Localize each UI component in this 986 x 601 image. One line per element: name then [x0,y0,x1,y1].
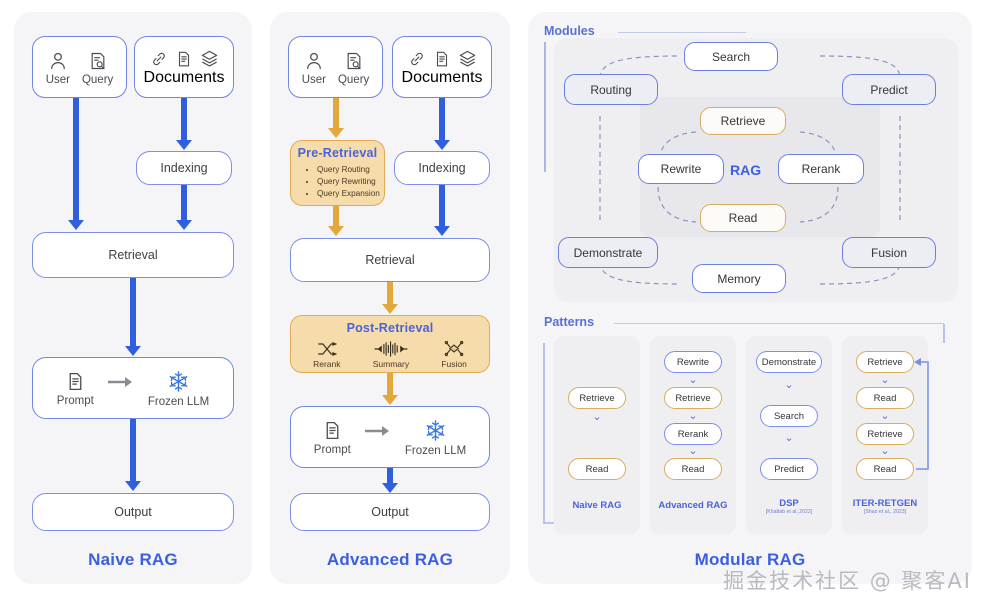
link-icon [150,50,168,68]
documents-box-advanced: Documents [392,36,492,98]
pattern-step: Retrieve [568,387,626,409]
module-retrieve: Retrieve [700,107,786,135]
pre-retrieval-item: Query Rewriting [317,176,384,188]
chevron-down-icon: ⌄ [856,411,914,422]
module-rerank: Rerank [778,154,864,184]
user-query-box: User Query [32,36,127,98]
prompt-item: Prompt [314,420,351,456]
module-search: Search [684,42,778,71]
user-label: User [302,74,326,86]
query-label: Query [82,74,113,86]
query-icon [88,51,108,71]
snowflake-icon [167,370,190,393]
user-item: User [46,51,70,86]
chevron-down-icon: ⌄ [756,380,822,391]
query-item: Query [338,51,369,86]
module-demonstrate: Demonstrate [558,237,658,268]
user-item: User [302,51,326,86]
module-memory: Memory [692,264,786,293]
pattern-caption: DSP [746,498,832,509]
module-rewrite: Rewrite [638,154,724,184]
frozen-llm-label: Frozen LLM [405,445,466,457]
pattern-citation: [Khattab et al.,2022] [746,509,832,515]
summary-label: Summary [373,359,409,369]
arrow-post-retrieval-to-prompt [380,373,400,405]
pattern-step: Retrieve [664,387,722,409]
prompt-document-icon [65,371,86,392]
summary-icon [374,341,408,357]
modules-bracket [544,42,546,172]
panel-title-naive: Naive RAG [14,550,252,570]
fusion-icon [443,340,465,357]
panel-title-advanced: Advanced RAG [270,550,510,570]
prompt-label: Prompt [57,395,94,407]
prompt-item: Prompt [57,371,94,407]
frozen-llm-item: Frozen LLM [405,419,466,457]
arrow-retrieval-to-prompt [123,278,143,356]
post-retrieval-item-summary: Summary [373,341,409,369]
pattern-step: Read [664,458,722,480]
pattern-step: Rerank [664,423,722,445]
user-label: User [46,74,70,86]
pattern-citation: [Shao et al., 2023] [842,509,928,515]
document-icon [433,50,451,68]
frozen-llm-item: Frozen LLM [148,370,209,408]
pattern-step: Read [856,458,914,480]
pattern-step: Retrieve [856,423,914,445]
arrow-user-to-retrieval [66,98,86,230]
prompt-frozen-llm-box-advanced: Prompt Frozen LLM [290,406,490,468]
panel-advanced-rag: User Query [270,12,510,584]
watermark: 掘金技术社区 @ 聚客AI [723,565,972,595]
rag-center-label: RAG [730,162,761,178]
pre-retrieval-list: Query Routing Query Rewriting Query Expa… [291,164,384,200]
arrow-indexing-to-retrieval [432,185,452,236]
documents-label: Documents [402,69,483,87]
documents-label: Documents [144,69,225,87]
chevron-down-icon: ⌄ [856,375,914,386]
chevron-down-icon: ⌄ [856,446,914,457]
chevron-down-icon: ⌄ [664,375,722,386]
pattern-step: Rewrite [664,351,722,373]
user-query-box-advanced: User Query [288,36,383,98]
pattern-caption: ITER-RETGEN [842,498,928,509]
arrow-query-to-pre-retrieval [326,98,346,138]
node-indexing: Indexing [136,151,232,185]
pattern-step: Read [856,387,914,409]
pre-retrieval-item: Query Expansion [317,188,384,200]
modules-section-label: Modules [544,24,595,38]
module-predict: Predict [842,74,936,105]
user-icon [48,51,68,71]
node-output: Output [290,493,490,531]
chevron-down-icon: ⌄ [756,433,822,444]
snowflake-icon [424,419,447,442]
panel-naive-rag: User Query [14,12,252,584]
layers-icon [458,49,477,68]
module-fusion: Fusion [842,237,936,268]
diagram-canvas: User Query [0,0,986,601]
prompt-frozen-llm-box: Prompt Frozen LLM [32,357,234,419]
arrow-prompt-to-output [123,419,143,491]
patterns-section-label: Patterns [544,315,594,329]
query-icon [344,51,364,71]
panel-modular-rag: Modules Search Routing Pred [528,12,972,584]
pattern-step: Predict [760,458,818,480]
arrow-pre-retrieval-to-retrieval [326,206,346,236]
pre-retrieval-item: Query Routing [317,164,384,176]
node-retrieval: Retrieval [290,238,490,282]
node-output: Output [32,493,234,531]
pattern-step: Retrieve [856,351,914,373]
post-retrieval-item-rerank: Rerank [313,341,340,369]
post-retrieval-title: Post-Retrieval [291,321,489,335]
pattern-caption: Naive RAG [554,500,640,511]
fusion-label: Fusion [441,359,467,369]
prompt-document-icon [322,420,343,441]
node-retrieval: Retrieval [32,232,234,278]
arrow-right-icon [365,425,391,437]
arrow-right-icon [108,376,134,388]
pattern-caption: Advanced RAG [650,500,736,511]
documents-box: Documents [134,36,234,98]
frozen-llm-label: Frozen LLM [148,396,209,408]
chevron-down-icon: ⌄ [664,446,722,457]
rerank-icon [317,341,337,357]
pre-retrieval-box: Pre-Retrieval Query Routing Query Rewrit… [290,140,385,206]
chevron-down-icon: ⌄ [568,412,626,423]
document-icon [175,50,193,68]
pre-retrieval-title: Pre-Retrieval [291,146,384,160]
arrow-retrieval-to-post-retrieval [380,282,400,314]
user-icon [304,51,324,71]
chevron-down-icon: ⌄ [664,411,722,422]
arrow-documents-to-indexing [432,98,452,150]
node-indexing: Indexing [394,151,490,185]
patterns-rule [614,323,944,324]
pattern-step: Read [568,458,626,480]
arrow-documents-to-indexing [174,98,194,150]
query-label: Query [338,74,369,86]
pattern-step: Search [760,405,818,427]
query-item: Query [82,51,113,86]
layers-icon [200,49,219,68]
module-read: Read [700,204,786,232]
rerank-label: Rerank [313,359,340,369]
link-icon [408,50,426,68]
arrow-prompt-to-output [380,468,400,493]
modules-rule [618,32,746,33]
post-retrieval-box: Post-Retrieval Rerank [290,315,490,373]
post-retrieval-item-fusion: Fusion [441,340,467,369]
arrow-indexing-to-retrieval [174,185,194,230]
prompt-label: Prompt [314,444,351,456]
module-routing: Routing [564,74,658,105]
pattern-step: Demonstrate [756,351,822,373]
